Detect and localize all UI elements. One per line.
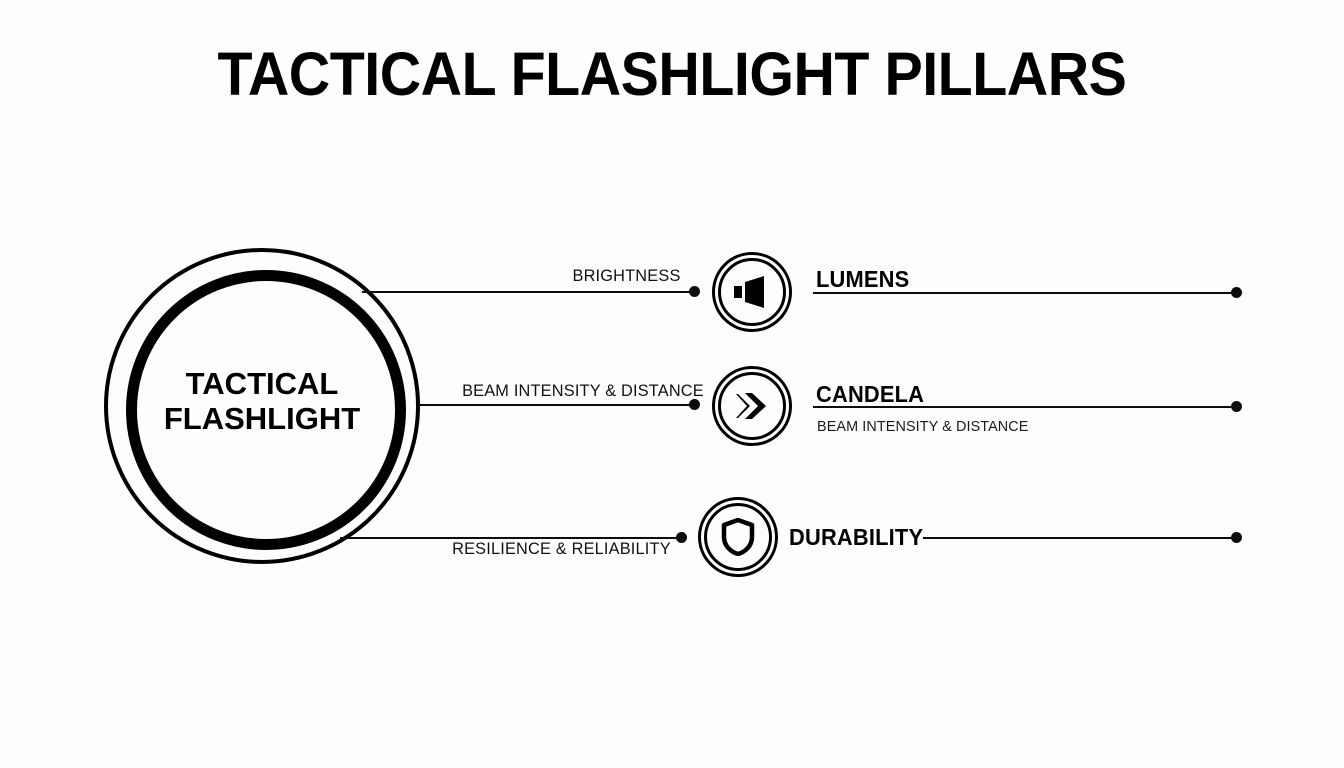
rail-dot-2 (1231, 401, 1242, 412)
icon-badge-lumens[interactable] (712, 252, 792, 332)
hub-label-line2: FLASHLIGHT (144, 401, 380, 436)
pillar-title-durability: DURABILITY (789, 524, 923, 551)
lead-line-1 (362, 291, 694, 293)
page-title: TACTICAL FLASHLIGHT PILLARS (40, 44, 1303, 105)
hub-label: TACTICAL FLASHLIGHT (144, 366, 380, 436)
central-hub: TACTICAL FLASHLIGHT (104, 248, 420, 564)
icon-badge-durability[interactable] (698, 497, 778, 577)
lead-dot-1 (689, 286, 700, 297)
hub-label-line1: TACTICAL (144, 366, 380, 401)
lead-label-resilience: RESILIENCE & RELIABILITY (452, 539, 671, 559)
pillar-title-lumens: LUMENS (816, 266, 909, 293)
rail-line-2 (813, 406, 1237, 408)
rail-line-3 (923, 537, 1237, 539)
rail-dot-3 (1231, 532, 1242, 543)
diagram-canvas: TACTICAL FLASHLIGHT PILLARS TACTICAL FLA… (0, 0, 1344, 768)
shield-icon (713, 512, 763, 562)
beam-cone-icon (727, 267, 777, 317)
lead-label-brightness: BRIGHTNESS (573, 266, 681, 286)
rail-dot-1 (1231, 287, 1242, 298)
lead-dot-3 (676, 532, 687, 543)
pillar-title-candela: CANDELA (816, 381, 924, 408)
pillar-subtitle-candela: BEAM INTENSITY & DISTANCE (817, 418, 1029, 435)
lead-label-beam-intensity: BEAM INTENSITY & DISTANCE (462, 381, 704, 401)
icon-badge-candela[interactable] (712, 366, 792, 446)
rail-line-1 (813, 292, 1237, 294)
double-chevron-icon (727, 381, 777, 431)
lead-line-2 (418, 404, 694, 406)
